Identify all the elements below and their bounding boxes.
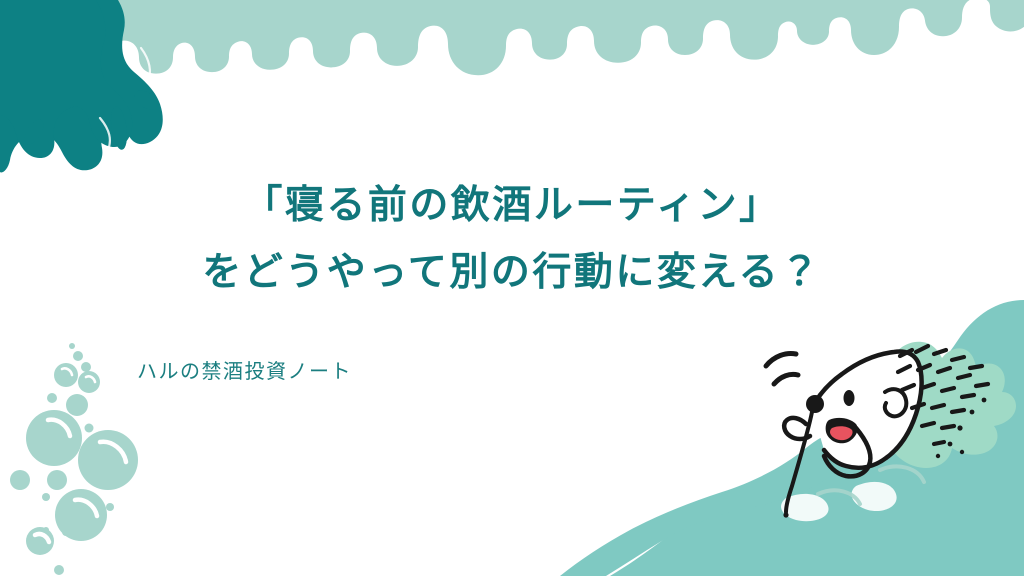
hedgehog-spine-dashes [898, 346, 988, 444]
title-block: 「寝る前の飲酒ルーティン」 をどうやって別の行動に変える？ [0, 186, 1024, 292]
wave-foam-curl [560, 425, 905, 576]
hedgehog-mouth [826, 418, 858, 443]
wave-light [610, 300, 1024, 576]
title-line-1: 「寝る前の飲酒ルーティン」 [0, 186, 1024, 225]
hedgehog-ear [885, 389, 906, 416]
hedgehog-jaw [824, 428, 870, 476]
hedgehog-tongue [830, 426, 853, 440]
motion-lines [766, 354, 798, 385]
hedgehog-paw [784, 418, 810, 439]
subtitle: ハルの禁酒投資ノート [137, 355, 352, 384]
hedgehog-head [812, 351, 922, 467]
thumbnail-canvas: 「寝る前の飲酒ルーティン」 をどうやって別の行動に変える？ ハルの禁酒投資ノート [0, 0, 1024, 576]
hedgehog-spines-fill [878, 342, 1016, 468]
hedgehog-arm-line [786, 412, 812, 512]
hedgehog-spine-dots [936, 398, 987, 459]
title-line-2: をどうやって別の行動に変える？ [0, 253, 1024, 292]
hedgehog-eye [844, 390, 855, 406]
hedgehog-nose [806, 395, 824, 413]
wave-deep [726, 330, 1024, 576]
